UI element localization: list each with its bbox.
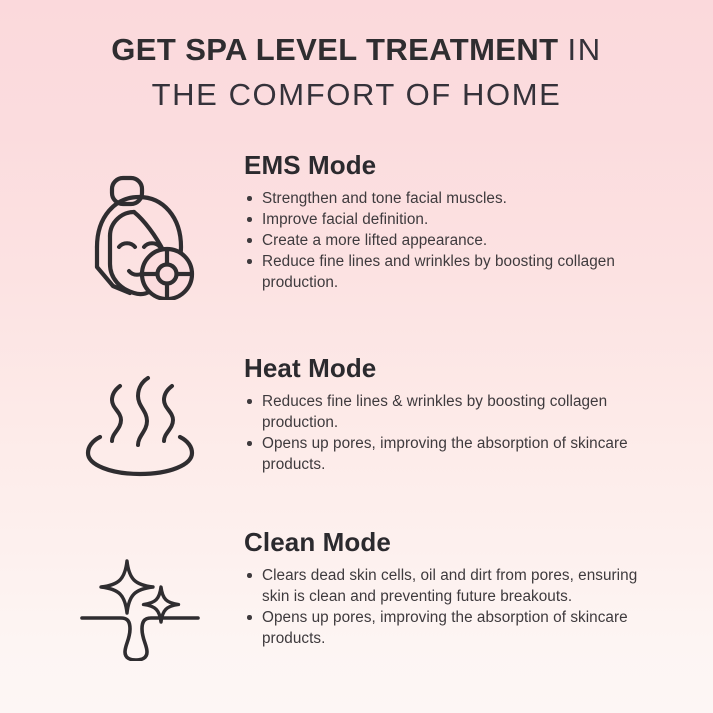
page-title: GET SPA LEVEL TREATMENTIN THE COMFORT OF… bbox=[0, 28, 713, 117]
heat-bullet-list: Reduces fine lines & wrinkles by boostin… bbox=[244, 391, 642, 475]
headline-line-2-text: THE COMFORT OF HOME bbox=[152, 77, 562, 112]
heat-text-slot: Heat Mode Reduces fine lines & wrinkles … bbox=[244, 353, 642, 475]
list-item: Reduce fine lines and wrinkles by boosti… bbox=[244, 251, 642, 293]
clean-mode-title: Clean Mode bbox=[244, 527, 642, 557]
ems-mode-title: EMS Mode bbox=[244, 150, 642, 180]
headline-line-2: THE COMFORT OF HOME bbox=[0, 73, 713, 117]
headline-light-part: IN bbox=[568, 32, 602, 67]
list-item: Reduces fine lines & wrinkles by boostin… bbox=[244, 391, 642, 433]
clean-icon-slot bbox=[60, 555, 220, 661]
ems-bullet-list: Strengthen and tone facial muscles. Impr… bbox=[244, 188, 642, 293]
woman-face-device-icon bbox=[84, 174, 196, 300]
list-item: Opens up pores, improving the absorption… bbox=[244, 607, 642, 649]
heat-icon-slot bbox=[60, 375, 220, 477]
heat-mode-title: Heat Mode bbox=[244, 353, 642, 383]
steam-bowl-icon bbox=[85, 375, 195, 477]
clean-text-slot: Clean Mode Clears dead skin cells, oil a… bbox=[244, 527, 642, 649]
sparkle-pore-icon bbox=[80, 555, 200, 661]
headline-bold-part: GET SPA LEVEL TREATMENT bbox=[111, 32, 558, 67]
list-item: Create a more lifted appearance. bbox=[244, 230, 642, 251]
headline-line-1: GET SPA LEVEL TREATMENTIN bbox=[0, 28, 713, 72]
list-item: Opens up pores, improving the absorption… bbox=[244, 433, 642, 475]
promo-graphic: GET SPA LEVEL TREATMENTIN THE COMFORT OF… bbox=[0, 0, 713, 713]
ems-text-slot: EMS Mode Strengthen and tone facial musc… bbox=[244, 150, 642, 293]
clean-bullet-list: Clears dead skin cells, oil and dirt fro… bbox=[244, 565, 642, 649]
list-item: Strengthen and tone facial muscles. bbox=[244, 188, 642, 209]
ems-icon-slot bbox=[60, 174, 220, 300]
list-item: Improve facial definition. bbox=[244, 209, 642, 230]
list-item: Clears dead skin cells, oil and dirt fro… bbox=[244, 565, 642, 607]
